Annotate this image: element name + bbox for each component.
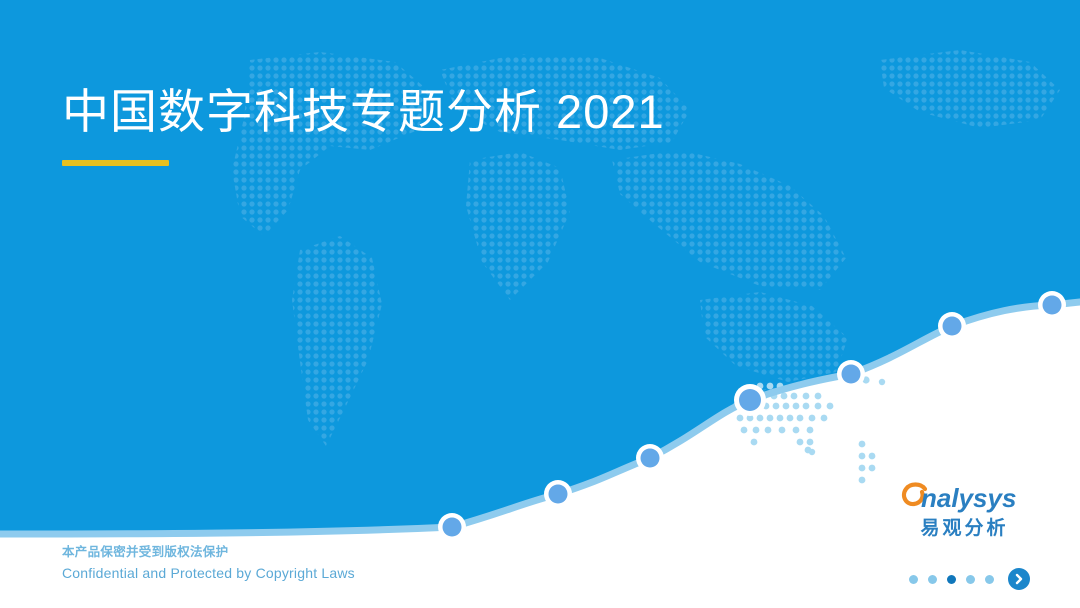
pager-dot-2[interactable] [928,575,937,584]
pager-dot-1[interactable] [909,575,918,584]
title-underline-rule [62,160,169,166]
page-title: 中国数字科技专题分析 2021 [62,84,665,140]
logo-wordmark: nalysys [897,480,1032,514]
svg-text:nalysys: nalysys [921,483,1016,513]
copyright-footer: 本产品保密并受到版权法保护 Confidential and Protected… [62,542,355,584]
title-block: 中国数字科技专题分析 2021 [62,84,665,166]
pager-dot-3[interactable] [947,575,956,584]
title-slide: 中国数字科技专题分析 2021 本产品保密并受到版权法保护 Confidenti… [0,0,1080,608]
pager-dot-4[interactable] [966,575,975,584]
analysys-logo: nalysys 易观分析 [897,480,1032,540]
copyright-notice-cn: 本产品保密并受到版权法保护 [62,542,355,562]
logo-name-cn: 易观分析 [897,513,1032,540]
copyright-notice-en: Confidential and Protected by Copyright … [62,562,355,584]
next-slide-button[interactable] [1008,568,1030,590]
analysys-logomark-icon: nalysys [897,480,1032,514]
slide-pager[interactable] [909,568,1030,590]
pager-dot-5[interactable] [985,575,994,584]
chevron-right-icon [1013,573,1025,585]
